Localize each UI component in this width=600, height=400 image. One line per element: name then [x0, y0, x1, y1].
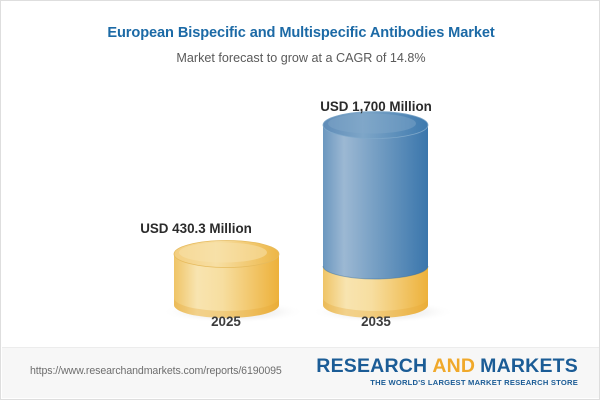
report-url-link[interactable]: https://www.researchandmarkets.com/repor…	[30, 365, 282, 377]
brand-wordmark: RESEARCHANDMARKETS	[316, 356, 578, 377]
footer: https://www.researchandmarkets.com/repor…	[2, 347, 600, 398]
chart-plot-area: USD 1,700 Million USD 430.3 Million 2025…	[1, 96, 600, 346]
bar-cylinder-2035	[311, 112, 455, 324]
category-label-2025: 2025	[146, 314, 306, 329]
bar-body-2035-growth	[323, 125, 428, 279]
infographic-card: European Bispecific and Multispecific An…	[0, 0, 600, 400]
bar-value-label-2025: USD 430.3 Million	[106, 221, 286, 236]
brand-word-and: AND	[432, 355, 475, 377]
header: European Bispecific and Multispecific An…	[1, 1, 600, 67]
brand-word-research: RESEARCH	[316, 355, 427, 377]
page-title: European Bispecific and Multispecific An…	[1, 23, 600, 43]
bar-top-highlight-2035	[328, 114, 416, 134]
brand-tagline: THE WORLD'S LARGEST MARKET RESEARCH STOR…	[316, 378, 578, 388]
bar-top-highlight-2025	[179, 243, 267, 263]
chart-subtitle: Market forecast to grow at a CAGR of 14.…	[1, 49, 600, 67]
category-label-2035: 2035	[296, 314, 456, 329]
research-and-markets-logo[interactable]: RESEARCHANDMARKETS THE WORLD'S LARGEST M…	[316, 356, 578, 388]
brand-word-markets: MARKETS	[480, 355, 578, 377]
cylinder-bar-chart	[1, 96, 600, 346]
bar-value-label-2035: USD 1,700 Million	[286, 99, 466, 114]
bar-cylinder-2025	[161, 241, 305, 324]
